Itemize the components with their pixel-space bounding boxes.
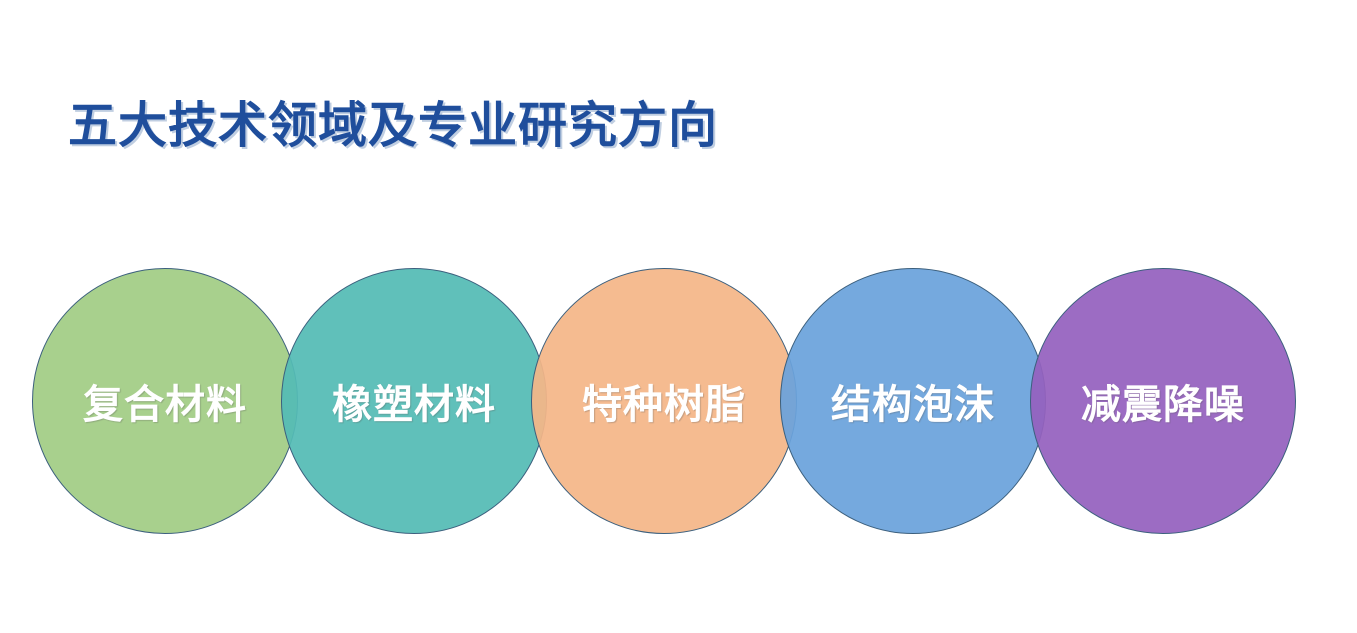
- venn-circle-label: 结构泡沫: [831, 372, 995, 430]
- venn-circle-special-resin[interactable]: 特种树脂: [531, 268, 797, 534]
- venn-circle-label: 减震降噪: [1081, 372, 1245, 430]
- venn-circle-label: 特种树脂: [582, 372, 746, 430]
- venn-circle-label: 橡塑材料: [332, 372, 496, 430]
- venn-circle-label: 复合材料: [83, 372, 247, 430]
- venn-circle-vibration-noise-reduction[interactable]: 减震降噪: [1030, 268, 1296, 534]
- slide-canvas: 五大技术领域及专业研究方向 复合材料 橡塑材料 特种树脂 结构泡沫 减震降噪: [0, 0, 1357, 633]
- venn-diagram: 复合材料 橡塑材料 特种树脂 结构泡沫 减震降噪: [0, 0, 1357, 633]
- venn-circle-composite-materials[interactable]: 复合材料: [32, 268, 298, 534]
- venn-circle-structural-foam[interactable]: 结构泡沫: [780, 268, 1046, 534]
- venn-circle-rubber-plastic-materials[interactable]: 橡塑材料: [281, 268, 547, 534]
